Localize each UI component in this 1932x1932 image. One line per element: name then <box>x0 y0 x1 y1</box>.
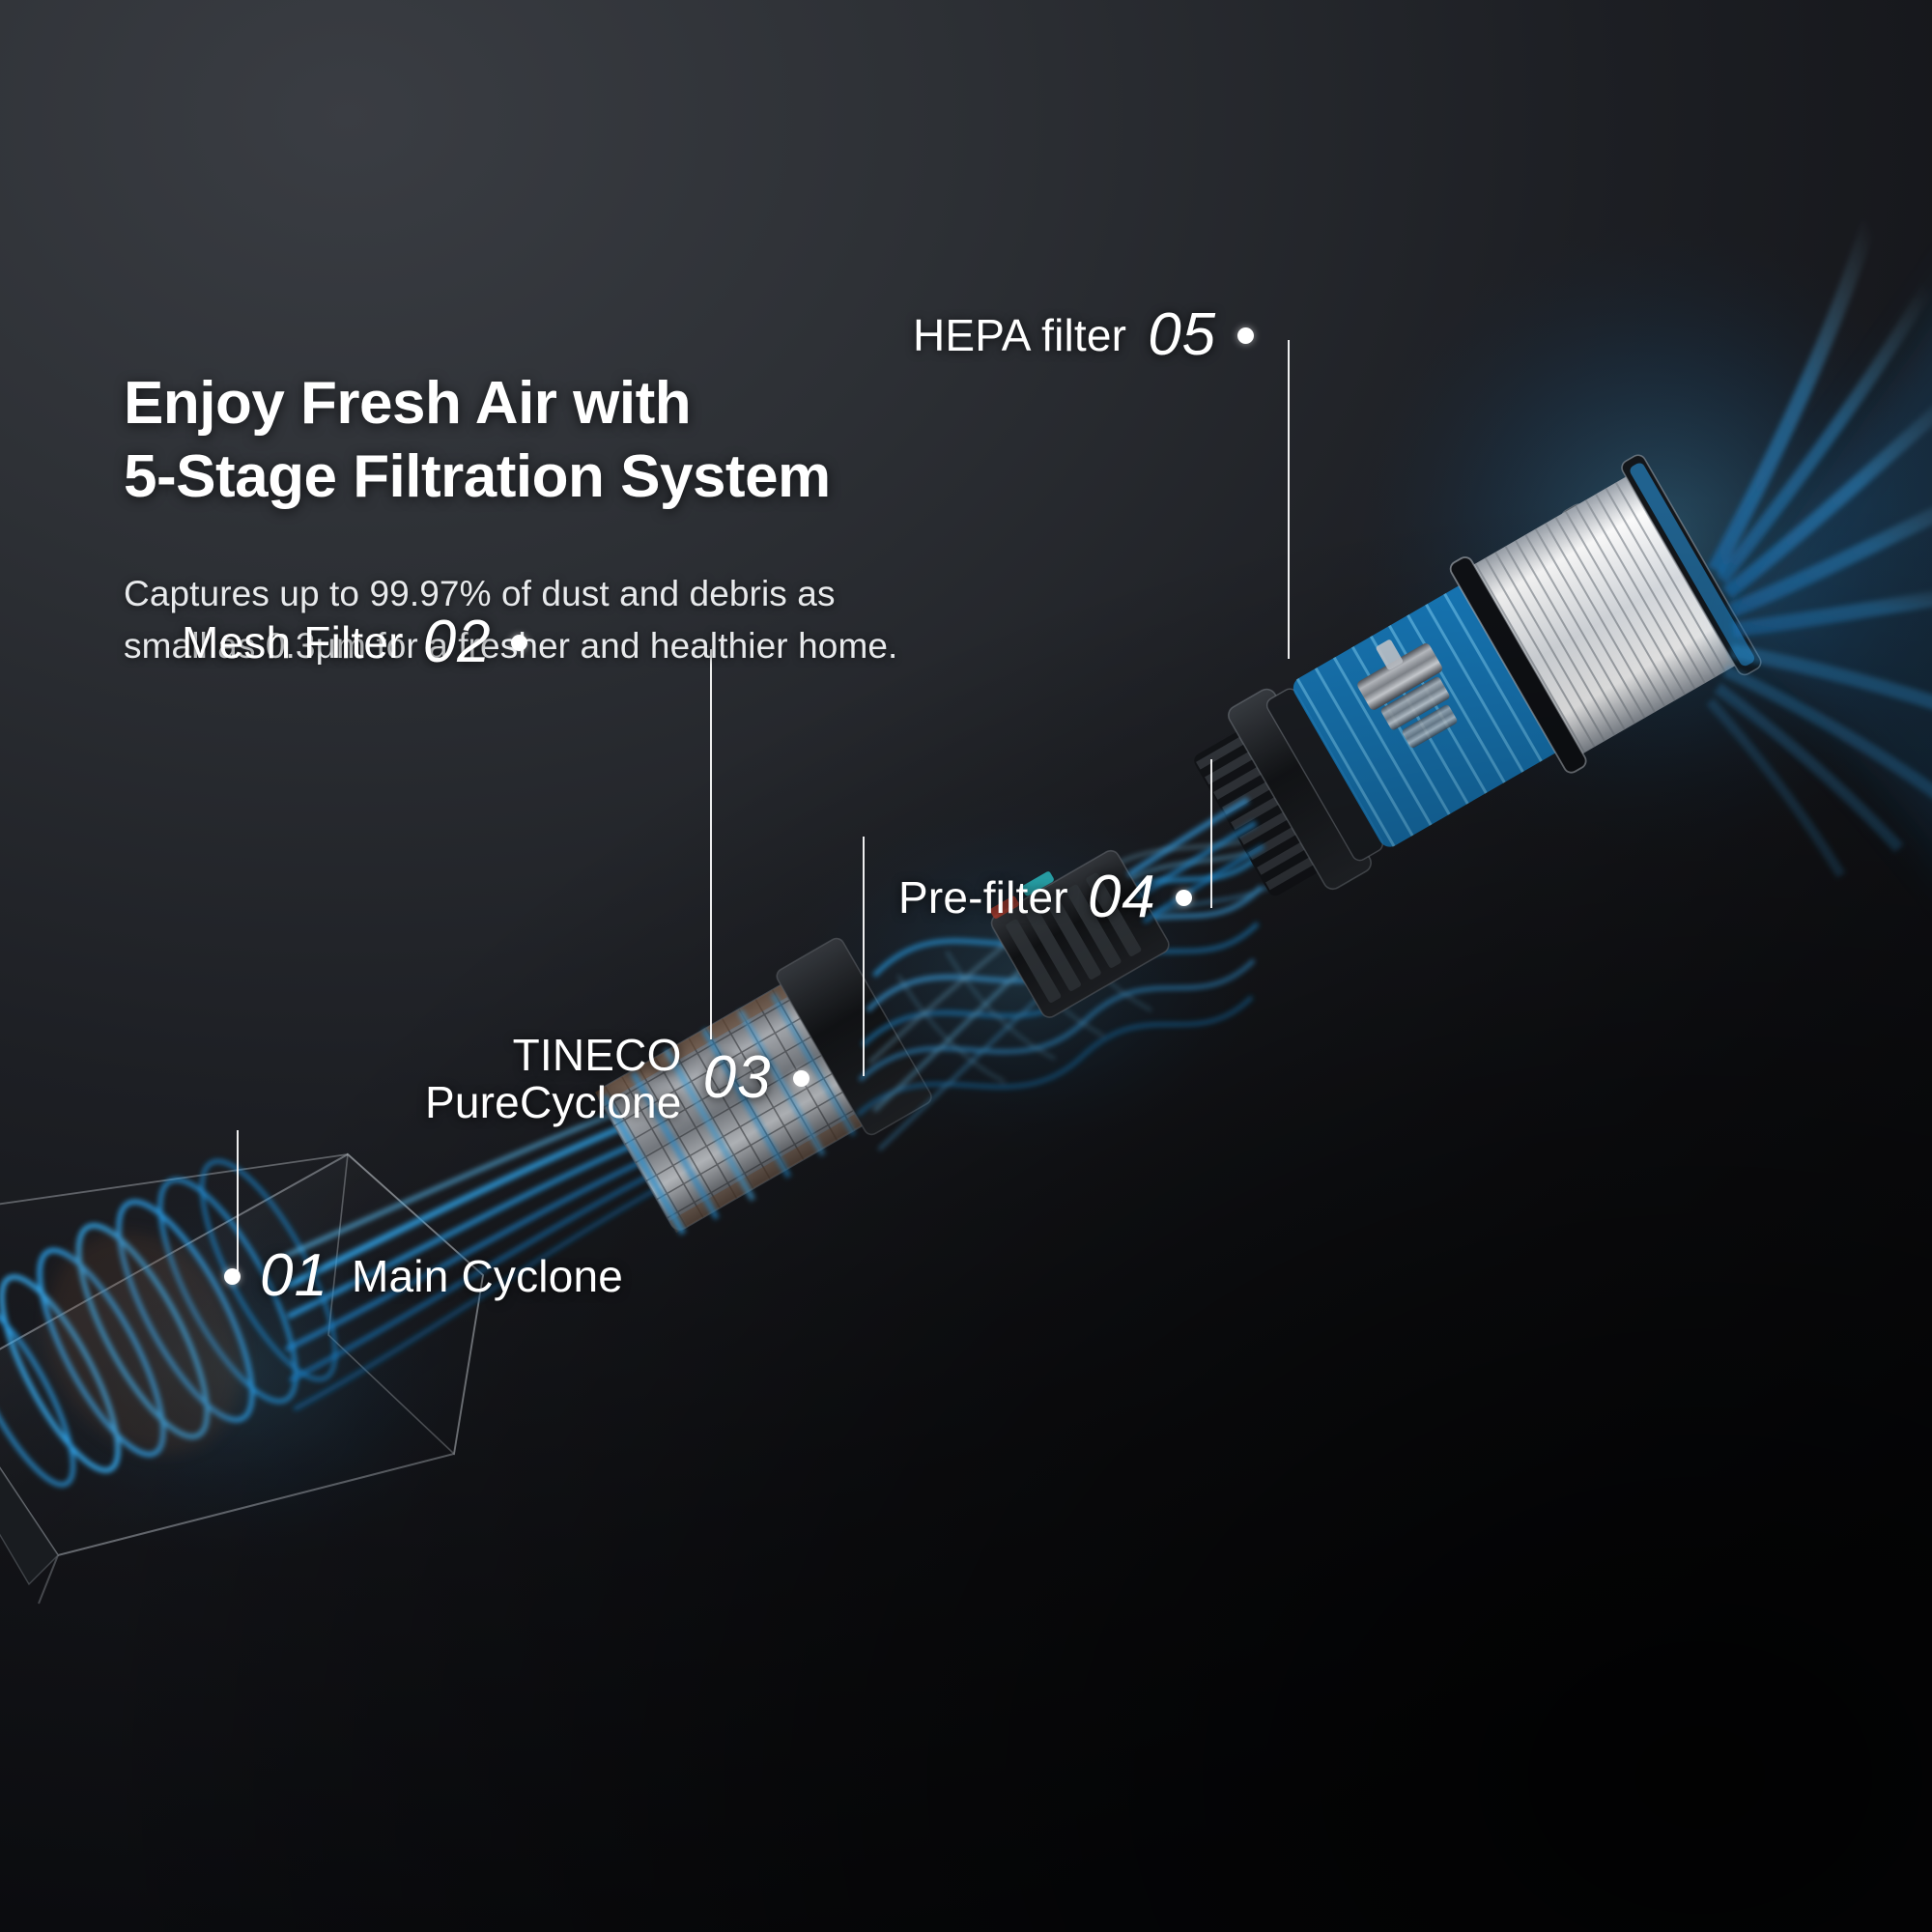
callout-label-01: Main Cyclone <box>352 1250 623 1302</box>
leader-line-05 <box>1288 340 1290 659</box>
callout-label-02: Mesh Filter <box>182 616 404 668</box>
leader-line-02 <box>710 649 712 1039</box>
leader-dot-icon <box>1237 327 1254 344</box>
callout-purecyclone: TINECO PureCyclone 03 <box>425 1032 810 1126</box>
product-artwork <box>0 0 1932 1932</box>
page-title: Enjoy Fresh Air with 5-Stage Filtration … <box>124 367 831 513</box>
callout-label-05: HEPA filter <box>913 309 1126 361</box>
callout-pre-filter: Pre-filter 04 <box>898 869 1192 926</box>
callout-mesh-filter: Mesh Filter 02 <box>182 614 527 671</box>
callout-label-03-line-1: TINECO <box>513 1032 682 1079</box>
headline-line-2: 5-Stage Filtration System <box>124 440 831 514</box>
leader-dot-icon <box>793 1070 810 1087</box>
leader-line-04 <box>1210 759 1212 908</box>
infographic-canvas: Enjoy Fresh Air with 5-Stage Filtration … <box>0 0 1932 1932</box>
callout-label-03: TINECO PureCyclone <box>425 1032 682 1126</box>
callout-hepa-filter: HEPA filter 05 <box>913 307 1254 364</box>
callout-label-03-line-2: PureCyclone <box>425 1079 682 1126</box>
callout-number-05: 05 <box>1148 307 1216 364</box>
callout-number-03: 03 <box>703 1050 772 1107</box>
callout-main-cyclone: 01 Main Cyclone <box>224 1248 623 1305</box>
callout-number-04: 04 <box>1088 869 1156 926</box>
leader-dot-icon <box>511 635 527 651</box>
callout-number-02: 02 <box>423 614 492 671</box>
leader-line-03 <box>863 837 865 1076</box>
leader-dot-icon <box>224 1268 241 1285</box>
callout-number-01: 01 <box>260 1248 328 1305</box>
callout-label-04: Pre-filter <box>898 871 1068 923</box>
subcopy-line-1: Captures up to 99.97% of dust and debris… <box>124 568 897 620</box>
leader-dot-icon <box>1176 890 1192 906</box>
headline-line-1: Enjoy Fresh Air with <box>124 370 691 437</box>
